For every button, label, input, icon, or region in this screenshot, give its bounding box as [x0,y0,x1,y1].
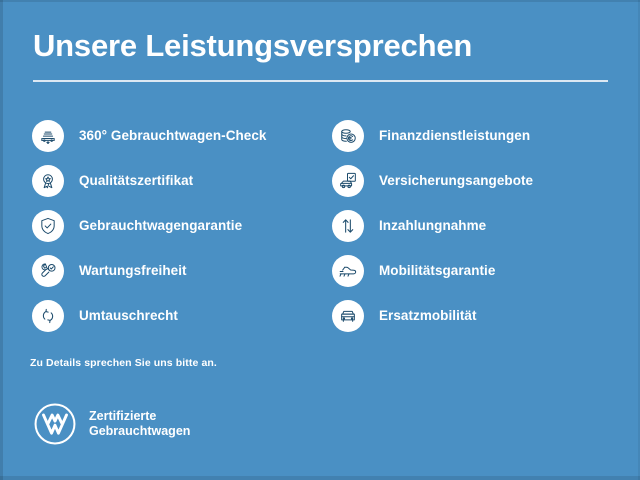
benefit-label: Gebrauchtwagengarantie [79,218,242,233]
brand-line-1: Zertifizierte [89,409,190,424]
title-divider [33,80,608,82]
brand-lockup: Zertifizierte Gebrauchtwagen [32,401,190,447]
brand-line-2: Gebrauchtwagen [89,424,190,439]
car-tow-icon [332,255,364,287]
award-rosette-icon [32,165,64,197]
benefit-item[interactable]: Inzahlungnahme [332,203,533,248]
promo-banner: Unsere Leistungsversprechen [0,0,640,480]
benefits-column-right: Finanzdienstleistungen Versicherungsange… [332,113,533,338]
benefit-item[interactable]: Mobilitätsgarantie [332,248,533,293]
shield-check-icon [32,210,64,242]
benefit-item[interactable]: Ersatzmobilität [332,293,533,338]
benefit-label: Ersatzmobilität [379,308,477,323]
benefit-label: Umtauschrecht [79,308,178,323]
benefit-item[interactable]: Umtauschrecht [32,293,266,338]
benefit-label: Wartungsfreiheit [79,263,187,278]
benefits-column-left: 360° Gebrauchtwagen-Check Qualitätszerti… [32,113,266,338]
benefit-item[interactable]: Finanzdienstleistungen [332,113,533,158]
car-front-icon [332,300,364,332]
vw-logo-icon [32,401,78,447]
wrench-check-icon [32,255,64,287]
benefit-item[interactable]: 360° Gebrauchtwagen-Check [32,113,266,158]
benefit-item[interactable]: Gebrauchtwagengarantie [32,203,266,248]
car-scan-360-icon [32,120,64,152]
benefit-label: Qualitätszertifikat [79,173,193,188]
benefit-label: Inzahlungnahme [379,218,486,233]
details-note: Zu Details sprechen Sie uns bitte an. [30,357,217,369]
benefit-label: Mobilitätsgarantie [379,263,495,278]
benefit-label: Finanzdienstleistungen [379,128,530,143]
benefit-label: Versicherungsangebote [379,173,533,188]
car-document-check-icon [332,165,364,197]
benefit-label: 360° Gebrauchtwagen-Check [79,128,266,143]
coins-euro-icon [332,120,364,152]
up-down-arrows-icon [332,210,364,242]
exchange-arrows-icon [32,300,64,332]
brand-text: Zertifizierte Gebrauchtwagen [89,409,190,439]
page-title: Unsere Leistungsversprechen [33,28,472,64]
benefit-item[interactable]: Wartungsfreiheit [32,248,266,293]
benefit-item[interactable]: Versicherungsangebote [332,158,533,203]
benefit-item[interactable]: Qualitätszertifikat [32,158,266,203]
